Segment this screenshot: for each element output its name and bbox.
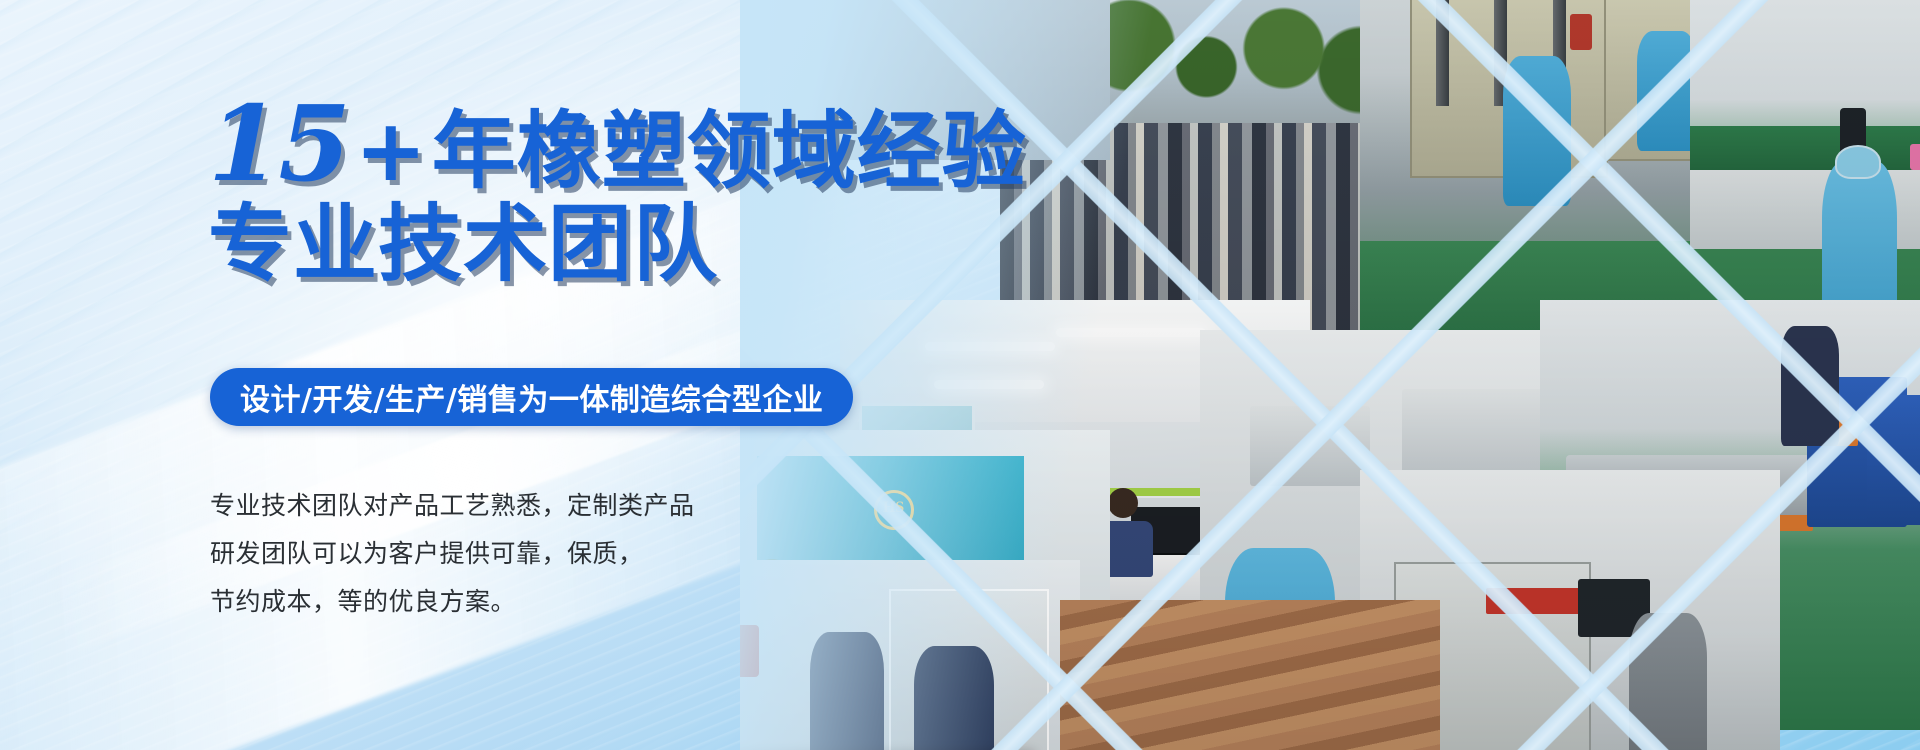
tagline-pill-label: 设计/开发/生产/销售为一体制造综合型企业	[240, 375, 823, 419]
headline-number: 15	[208, 82, 349, 205]
description-line-3: 节约成本，等的优良方案。	[210, 578, 695, 626]
description-line-2: 研发团队可以为客户提供可靠，保质，	[210, 530, 695, 578]
headline-plus-sign: +	[355, 101, 428, 201]
description-line-1: 专业技术团队对产品工艺熟悉，定制类产品	[210, 482, 695, 530]
headline-line-1: 15+年橡塑领域经验	[208, 96, 1027, 199]
headline-line-2: 专业技术团队	[208, 196, 718, 292]
tagline-pill: 设计/开发/生产/销售为一体制造综合型企业	[210, 368, 853, 426]
copy-block: 15+年橡塑领域经验 专业技术团队 设计/开发/生产/销售为一体制造综合型企业 …	[0, 0, 900, 750]
promo-banner: HS	[0, 0, 1920, 750]
headline-line-1-text: 年橡塑领域经验	[432, 102, 1027, 200]
photo-corridor-wood-panel	[1060, 600, 1440, 750]
description-paragraph: 专业技术团队对产品工艺熟悉，定制类产品 研发团队可以为客户提供可靠，保质， 节约…	[210, 482, 695, 626]
